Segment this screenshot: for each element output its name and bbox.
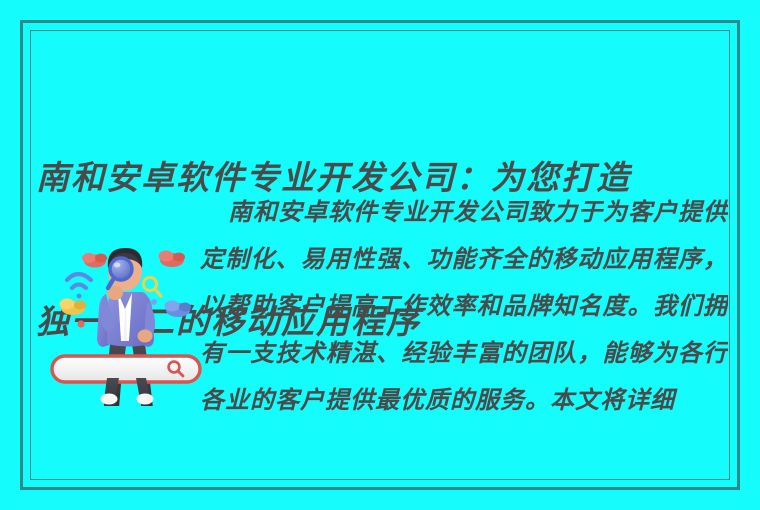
article-paragraph: 南和安卓软件专业开发公司致力于为客户提供定制化、易用性强、功能齐全的移动应用程序… (200, 188, 728, 423)
banner-canvas: 南和安卓软件专业开发公司：为您打造 独一无二的移动应用程序 南和安卓软件专业开发… (0, 0, 760, 510)
search-icon-small (143, 277, 161, 296)
dot-blue-small (151, 299, 157, 305)
illustration-person-on-search-bar (48, 236, 208, 406)
wifi-icon (67, 274, 91, 298)
cloud-coral-top (82, 253, 107, 268)
shoe-right (137, 394, 154, 405)
shoe-left (101, 394, 118, 405)
cloud-yellow-left (60, 299, 87, 316)
cloud-blue-right (165, 301, 192, 318)
search-bar[interactable] (52, 356, 200, 382)
cloud-coral-right (159, 251, 186, 268)
article-body: 南和安卓软件专业开发公司致力于为客户提供定制化、易用性强、功能齐全的移动应用程序… (200, 188, 728, 472)
dot-coral (77, 320, 84, 327)
